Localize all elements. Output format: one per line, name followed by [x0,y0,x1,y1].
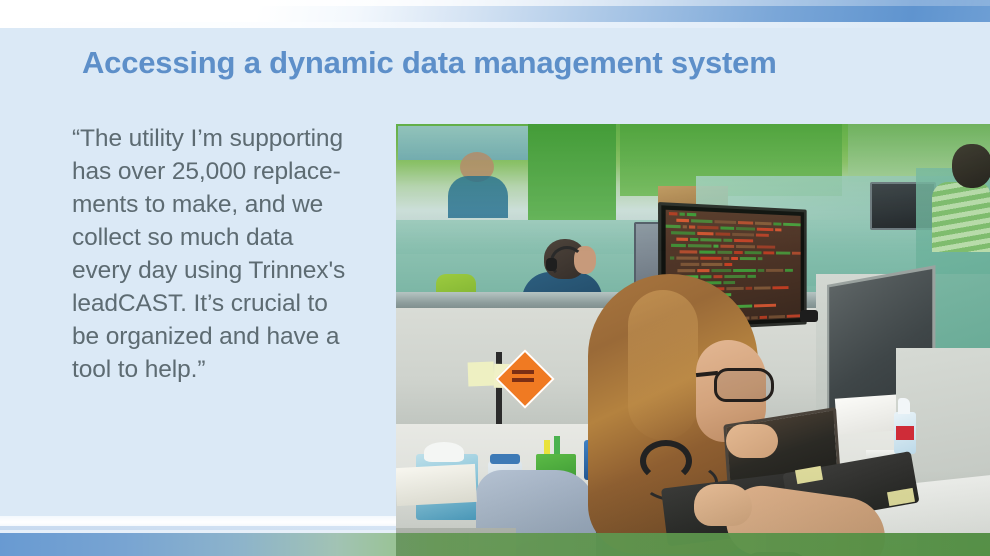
photo-color-grade [396,124,990,556]
top-banner-highlight [0,0,990,6]
testimonial-quote: “The utility I’m supporting has over 25,… [72,122,392,386]
office-photo [396,124,990,556]
footer-gradient-overlay [396,533,990,556]
quote-block: “The utility I’m supporting has over 25,… [72,122,392,386]
office-photo-content [396,124,990,556]
page-title: Accessing a dynamic data management syst… [82,46,962,80]
presentation-slide: Accessing a dynamic data management syst… [0,0,990,556]
